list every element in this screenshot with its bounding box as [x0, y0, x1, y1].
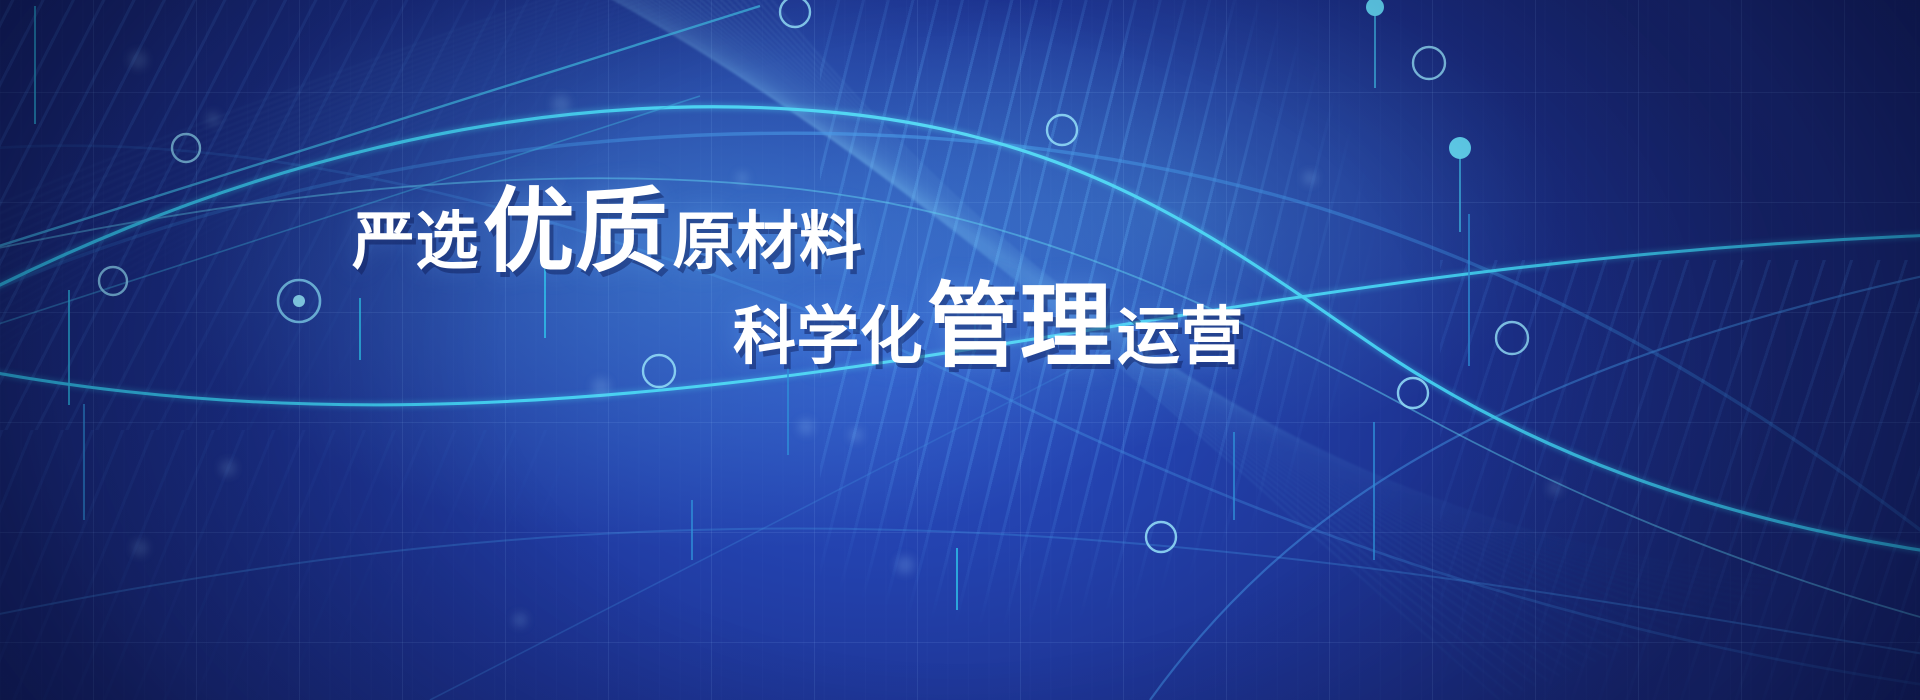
hero-banner: 严选优质原材料 科学化管理运营 [0, 0, 1920, 700]
vignette-overlay [0, 0, 1920, 700]
